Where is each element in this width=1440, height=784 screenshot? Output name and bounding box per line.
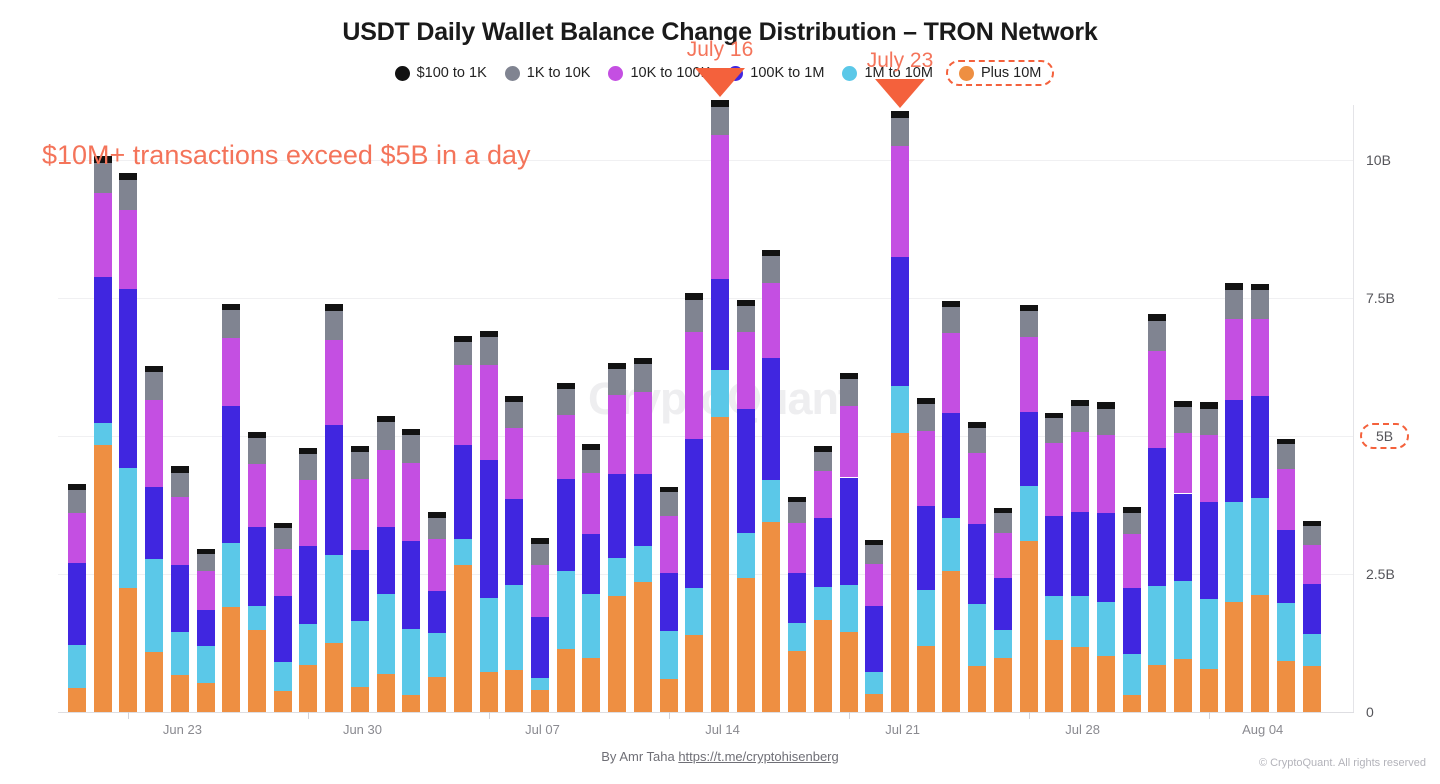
bar-segment (68, 484, 86, 490)
bar-segment (171, 565, 189, 632)
legend-item-label: 100K to 1M (750, 65, 824, 81)
bar-segment (814, 587, 832, 620)
bar-segment (325, 304, 343, 311)
bar-segment (325, 425, 343, 555)
bar-segment (711, 100, 729, 107)
bar-segment (865, 545, 883, 564)
bar-segment (1303, 526, 1321, 545)
bar-segment (788, 523, 806, 573)
x-axis-tick-mark (308, 712, 309, 719)
bar-segment (968, 524, 986, 604)
bar-segment (402, 463, 420, 541)
x-axis-tick-mark (128, 712, 129, 719)
bar-segment (737, 578, 755, 712)
bar-segment (608, 596, 626, 712)
bar-segment (480, 672, 498, 712)
bar-segment (557, 383, 575, 389)
bar-segment (917, 506, 935, 590)
bar-segment (1251, 290, 1269, 319)
bar-segment (865, 672, 883, 694)
bar-segment (1071, 647, 1089, 712)
bar-segment (891, 118, 909, 147)
bar-segment (145, 366, 163, 372)
bar-segment (531, 617, 549, 678)
bar-segment (711, 135, 729, 278)
bar-segment (634, 358, 652, 364)
legend-item-label: $100 to 1K (417, 65, 487, 81)
bar-segment (454, 342, 472, 365)
gridline (58, 298, 1353, 299)
bar-segment (917, 590, 935, 646)
bar-segment (1045, 413, 1063, 419)
bar-segment (454, 336, 472, 342)
bar-segment (377, 527, 395, 594)
bar-segment (274, 549, 292, 596)
x-axis-tick-mark (849, 712, 850, 719)
bar-segment (608, 395, 626, 473)
bar-segment (1097, 402, 1115, 408)
bar-segment (737, 300, 755, 306)
bar-segment (788, 502, 806, 523)
bar-segment (1020, 541, 1038, 712)
bar-segment (351, 479, 369, 551)
bar-segment (634, 392, 652, 474)
bar-segment (1045, 596, 1063, 640)
bar-segment (1123, 513, 1141, 534)
bar-segment (222, 543, 240, 608)
bar-segment (325, 340, 343, 426)
bar-segment (608, 474, 626, 558)
bar-segment (1045, 418, 1063, 443)
bar-segment (248, 630, 266, 712)
bar-segment (942, 307, 960, 333)
bar-segment (68, 645, 86, 688)
bar-segment (351, 550, 369, 621)
bar-segment (582, 594, 600, 657)
x-axis-tick-label: Jul 21 (885, 722, 920, 737)
bar-segment (762, 480, 780, 521)
bar-segment (325, 555, 343, 643)
y-axis-tick-label: 5B (1360, 423, 1409, 449)
bar-segment (994, 578, 1012, 630)
bar-segment (1148, 351, 1166, 448)
bar-segment (994, 508, 1012, 513)
bar-segment (145, 372, 163, 400)
bar-segment (685, 293, 703, 300)
bar-segment (711, 417, 729, 712)
bar-segment (582, 658, 600, 712)
x-axis-tick-label: Aug 04 (1242, 722, 1283, 737)
bar-segment (119, 468, 137, 588)
bar-segment (582, 450, 600, 473)
bar-segment (1148, 665, 1166, 712)
legend-dot-icon (842, 66, 857, 81)
bar-segment (557, 415, 575, 479)
bar-segment (1251, 319, 1269, 396)
bar-segment (1277, 444, 1295, 469)
bar-segment (402, 435, 420, 463)
bar-segment (840, 632, 858, 712)
footer-credit: By Amr Taha https://t.me/cryptohisenberg (0, 749, 1440, 764)
x-axis-tick-mark (669, 712, 670, 719)
bar-segment (377, 416, 395, 422)
bar-segment (274, 691, 292, 712)
bar-segment (1123, 534, 1141, 588)
bar-segment (299, 546, 317, 623)
bar-segment (1174, 581, 1192, 659)
bar-segment (480, 365, 498, 460)
bar-segment (68, 490, 86, 513)
bar-segment (325, 311, 343, 340)
bar-segment (1020, 412, 1038, 486)
bar-segment (942, 333, 960, 413)
bar-segment (660, 573, 678, 631)
bar-segment (891, 146, 909, 256)
bar-segment (1277, 661, 1295, 712)
x-axis-tick-mark (1029, 712, 1030, 719)
bar-segment (531, 538, 549, 544)
x-axis-line (58, 712, 1354, 713)
bar-segment (1020, 311, 1038, 337)
bar-segment (171, 632, 189, 675)
bar-segment (917, 404, 935, 430)
bar-segment (1200, 402, 1218, 408)
bar-segment (685, 588, 703, 635)
bar-segment (1174, 433, 1192, 494)
bar-segment (1277, 439, 1295, 445)
bar-segment (685, 332, 703, 440)
bar-segment (788, 497, 806, 503)
bar-segment (1303, 521, 1321, 526)
bar-segment (917, 431, 935, 506)
bar-segment (1123, 654, 1141, 695)
bar-segment (737, 332, 755, 408)
bar-segment (248, 606, 266, 631)
bar-segment (531, 544, 549, 565)
bar-segment (402, 541, 420, 629)
x-axis-tick-mark (1209, 712, 1210, 719)
bar-segment (119, 210, 137, 288)
down-triangle-icon (695, 68, 745, 97)
bar-segment (68, 688, 86, 712)
bar-segment (197, 554, 215, 572)
bar-segment (1071, 400, 1089, 406)
bar-segment (840, 373, 858, 379)
bar-segment (531, 690, 549, 712)
bar-segment (891, 386, 909, 433)
bar-segment (1200, 669, 1218, 712)
bar-segment (711, 370, 729, 417)
bar-segment (377, 422, 395, 450)
bar-segment (274, 528, 292, 549)
bar-segment (171, 473, 189, 498)
bar-segment (557, 571, 575, 648)
bar-segment (865, 564, 883, 605)
legend-item-0[interactable]: $100 to 1K (386, 62, 496, 84)
bar-segment (1071, 512, 1089, 596)
bar-segment (1174, 401, 1192, 407)
bar-segment (1174, 494, 1192, 581)
x-axis-tick-mark (489, 712, 490, 719)
bar-segment (248, 464, 266, 527)
bar-segment (891, 111, 909, 118)
bar-segment (248, 527, 266, 605)
bar-segment (119, 289, 137, 468)
bar-segment (1225, 283, 1243, 290)
bar-segment (1020, 486, 1038, 541)
bar-segment (737, 533, 755, 578)
bar-segment (299, 448, 317, 454)
bar-segment (454, 565, 472, 712)
bar-segment (660, 492, 678, 515)
bar-segment (711, 279, 729, 370)
bar-segment (1225, 319, 1243, 401)
y-axis-tick-label: 2.5B (1366, 566, 1395, 582)
bar-segment (608, 558, 626, 597)
bar-segment (454, 539, 472, 565)
bar-segment (1097, 656, 1115, 712)
x-axis-tick-label: Jun 23 (163, 722, 202, 737)
bar-segment (634, 582, 652, 712)
bar-segment (1303, 666, 1321, 712)
bar-segment (119, 173, 137, 180)
bar-segment (505, 585, 523, 671)
bar-segment (428, 677, 446, 712)
bar-segment (197, 571, 215, 610)
bar-segment (94, 193, 112, 277)
bar-segment (325, 643, 343, 712)
bar-segment (865, 606, 883, 672)
y-axis-line (1353, 105, 1354, 712)
bar-segment (994, 658, 1012, 712)
x-axis-tick-label: Jul 14 (705, 722, 740, 737)
bar-segment (1200, 599, 1218, 669)
bar-segment (762, 283, 780, 358)
bar-segment (1251, 498, 1269, 595)
bar-segment (1071, 596, 1089, 647)
bar-segment (1071, 432, 1089, 511)
legend-item-5[interactable]: Plus 10M (946, 60, 1054, 86)
y-axis-tick-label: 10B (1366, 152, 1391, 168)
bar-segment (660, 679, 678, 712)
bar-segment (840, 478, 858, 586)
bar-segment (1200, 435, 1218, 502)
bar-segment (788, 573, 806, 623)
bar-segment (222, 338, 240, 406)
bar-segment (402, 429, 420, 435)
bar-segment (1097, 602, 1115, 656)
bar-segment (299, 624, 317, 665)
bar-segment (68, 563, 86, 645)
legend-dot-icon (608, 66, 623, 81)
bar-segment (480, 331, 498, 337)
bar-segment (171, 466, 189, 472)
bar-segment (1148, 321, 1166, 351)
bar-segment (582, 473, 600, 534)
bar-segment (1277, 469, 1295, 530)
bar-segment (1251, 396, 1269, 498)
legend-dot-icon (959, 66, 974, 81)
bar-segment (480, 460, 498, 598)
y-axis-tick-label: 0 (1366, 704, 1374, 720)
bar-segment (917, 646, 935, 712)
bar-segment (737, 409, 755, 533)
legend-dot-icon (505, 66, 520, 81)
x-axis-tick-label: Jul 07 (525, 722, 560, 737)
bar-segment (1225, 502, 1243, 601)
legend-dot-icon (395, 66, 410, 81)
footer-credit-link[interactable]: https://t.me/cryptohisenberg (678, 749, 838, 764)
bar-segment (634, 364, 652, 392)
bar-segment (94, 277, 112, 423)
bar-segment (505, 670, 523, 712)
y-axis-tick-label: 7.5B (1366, 290, 1395, 306)
bar-segment (968, 422, 986, 428)
bar-segment (1148, 314, 1166, 321)
bar-segment (351, 452, 369, 478)
bar-segment (660, 631, 678, 678)
x-axis-tick-label: Jul 28 (1065, 722, 1100, 737)
bar-segment (480, 598, 498, 672)
bar-segment (171, 497, 189, 564)
bar-segment (222, 310, 240, 338)
bar-segment (248, 432, 266, 438)
bar-segment (428, 539, 446, 591)
bar-segment (1277, 530, 1295, 603)
bar-segment (994, 533, 1012, 578)
bar-segment (840, 379, 858, 405)
footer-copyright: © CryptoQuant. All rights reserved (1259, 757, 1426, 769)
x-axis-tick-label: Jun 30 (343, 722, 382, 737)
bar-segment (814, 471, 832, 518)
bar-segment (145, 559, 163, 653)
bar-segment (505, 396, 523, 402)
bar-segment (1200, 502, 1218, 599)
bar-segment (865, 694, 883, 712)
bar-segment (968, 428, 986, 453)
bar-segment (1020, 337, 1038, 411)
bar-segment (891, 257, 909, 387)
bar-segment (222, 607, 240, 712)
legend-item-label: 1K to 10K (527, 65, 591, 81)
bar-segment (1148, 448, 1166, 586)
bar-segment (814, 446, 832, 452)
bar-segment (454, 445, 472, 539)
bar-segment (145, 652, 163, 712)
bar-segment (814, 518, 832, 587)
bar-segment (942, 413, 960, 518)
bar-segment (1225, 602, 1243, 712)
bar-segment (351, 446, 369, 452)
bar-segment (299, 665, 317, 712)
bar-segment (171, 675, 189, 712)
bar-segment (428, 591, 446, 632)
bar-segment (1071, 406, 1089, 432)
bar-segment (1123, 507, 1141, 513)
bar-segment (557, 479, 575, 572)
bar-segment (788, 651, 806, 712)
bar-segment (762, 522, 780, 712)
bar-segment (1045, 516, 1063, 596)
bar-segment (274, 596, 292, 662)
legend-item-1[interactable]: 1K to 10K (496, 62, 600, 84)
bar-segment (119, 180, 137, 210)
bar-segment (197, 549, 215, 554)
bar-segment (94, 423, 112, 445)
bar-segment (762, 256, 780, 282)
bar-segment (942, 301, 960, 307)
bar-segment (402, 629, 420, 695)
bar-segment (274, 523, 292, 529)
bar-segment (68, 513, 86, 563)
bar-segment (968, 453, 986, 525)
bar-segment (299, 480, 317, 546)
bar-segment (608, 369, 626, 395)
bar-segment (222, 406, 240, 543)
bar-segment (1020, 305, 1038, 311)
bar-segment (145, 487, 163, 559)
bar-segment (788, 623, 806, 652)
bar-segment (1097, 513, 1115, 601)
bar-segment (840, 585, 858, 632)
bar-segment (222, 304, 240, 310)
bar-segment (814, 620, 832, 712)
bar-segment (762, 250, 780, 256)
bar-segment (557, 649, 575, 712)
bar-segment (737, 306, 755, 332)
bar-segment (968, 604, 986, 666)
bar-segment (248, 438, 266, 464)
bar-segment (377, 450, 395, 527)
bar-segment (402, 695, 420, 712)
down-triangle-icon (875, 79, 925, 108)
bar-segment (582, 534, 600, 595)
callout-annotation: $10M+ transactions exceed $5B in a day (42, 140, 531, 171)
bar-segment (1303, 634, 1321, 666)
bar-segment (1123, 588, 1141, 654)
bar-segment (685, 300, 703, 332)
bar-segment (608, 363, 626, 369)
bar-segment (711, 107, 729, 136)
bar-segment (480, 337, 498, 365)
date-marker-label: July 23 (867, 49, 934, 73)
bar-segment (814, 452, 832, 472)
bar-segment (762, 358, 780, 481)
bar-segment (1174, 659, 1192, 712)
bar-segment (454, 365, 472, 445)
bar-segment (531, 565, 549, 617)
bar-segment (531, 678, 549, 690)
date-marker-label: July 16 (687, 38, 754, 62)
bar-segment (1174, 407, 1192, 432)
bar-segment (94, 445, 112, 712)
bar-segment (505, 428, 523, 499)
bar-segment (505, 499, 523, 585)
bar-segment (377, 594, 395, 674)
bar-segment (1123, 695, 1141, 712)
chart-root: USDT Daily Wallet Balance Change Distrib… (0, 0, 1440, 784)
plot-area (58, 105, 1353, 712)
bar-segment (1045, 443, 1063, 516)
bar-segment (1225, 290, 1243, 319)
bar-segment (660, 516, 678, 573)
bar-segment (1045, 640, 1063, 712)
bar-segment (351, 687, 369, 712)
bar-segment (968, 666, 986, 712)
bar-segment (1277, 603, 1295, 661)
bar-segment (1251, 284, 1269, 291)
bar-segment (274, 662, 292, 691)
